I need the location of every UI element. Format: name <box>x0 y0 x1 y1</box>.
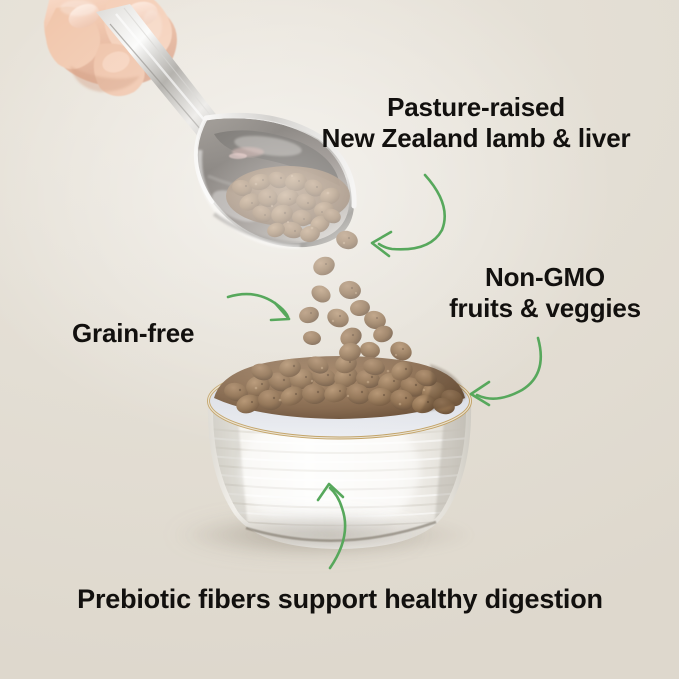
bowl-shadow-soft <box>120 500 420 570</box>
callout-label-non-gmo: Non-GMO fruits & veggies <box>440 262 650 324</box>
callout-label-prebiotic-fibers: Prebiotic fibers support healthy digesti… <box>30 583 650 615</box>
callout-label-grain-free: Grain-free <box>72 318 222 349</box>
callout-label-pasture-raised: Pasture-raised New Zealand lamb & liver <box>306 92 646 154</box>
product-photo-scene: Pasture-raised New Zealand lamb & liver … <box>0 0 679 679</box>
